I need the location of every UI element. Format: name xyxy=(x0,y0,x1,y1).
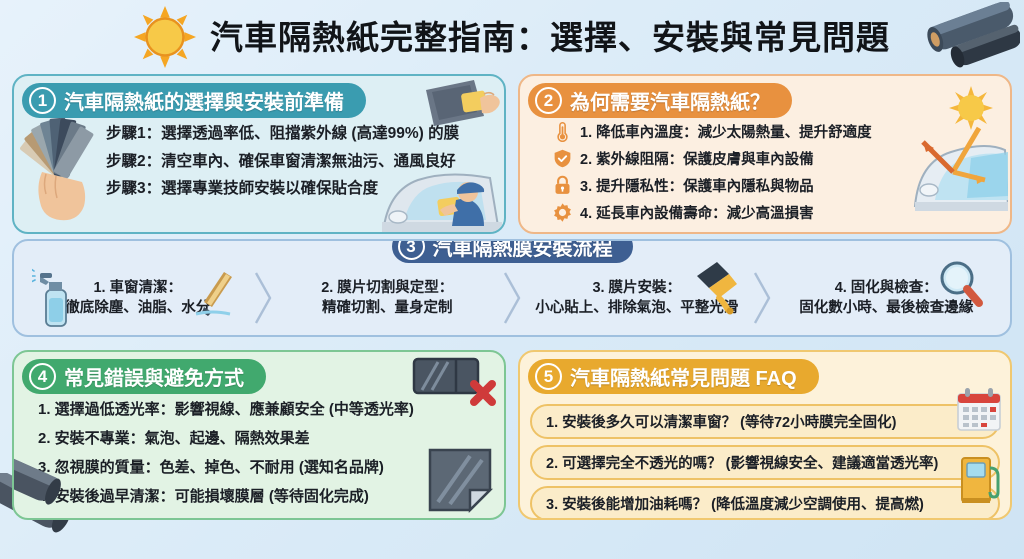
flow-step-title: 1. 車窗清潔： xyxy=(26,278,250,298)
list-item: 2. 安裝不專業：氣泡、起邊、隔熱效果差 xyxy=(38,423,504,452)
list-item: 3. 忽視膜的質量：色差、掉色、不耐用 (選知名品牌) xyxy=(38,452,504,481)
section-title-5: 汽車隔熱紙常見問題 FAQ xyxy=(570,362,797,391)
preparation-steps-list: 步驟1：選擇透過率低、阻擋紫外線 (高達99%) 的膜 步驟2：清空車內、確保車… xyxy=(106,120,504,203)
lock-icon xyxy=(552,175,573,196)
flow-step-3: 3. 膜片安裝： 小心貼上、排除氣泡、平整光滑 xyxy=(523,276,751,320)
chevron-right-icon xyxy=(751,271,773,325)
section-card-3: 3 汽車隔熱膜安裝流程 xyxy=(12,239,1012,337)
section-title-2: 為何需要汽車隔熱紙？ xyxy=(570,86,770,115)
thermometer-icon xyxy=(552,121,573,142)
section-title-1: 汽車隔熱紙的選擇與安裝前準備 xyxy=(64,86,344,115)
list-item: 步驟1：選擇透過率低、阻擋紫外線 (高達99%) 的膜 xyxy=(106,120,504,148)
list-item: 1. 降低車內溫度：減少太陽熱量、提升舒適度 xyxy=(552,118,1010,145)
chevron-right-icon xyxy=(501,271,523,325)
flow-step-title: 2. 膜片切割與定型： xyxy=(276,278,500,298)
list-item-label: 1. 降低車內溫度：減少太陽熱量、提升舒適度 xyxy=(580,121,872,142)
chevron-right-icon xyxy=(252,271,274,325)
swatch-fan-icon xyxy=(18,114,108,226)
section-number-2: 2 xyxy=(535,87,562,114)
section-title-3: 汽車隔熱膜安裝流程 xyxy=(433,239,613,261)
section-title-4: 常見錯誤與避免方式 xyxy=(64,362,244,391)
flow-step-desc: 精確切割、量身定制 xyxy=(276,298,500,318)
section-number-3: 3 xyxy=(398,239,425,260)
flow-step-desc: 小心貼上、排除氣泡、平整光滑 xyxy=(525,298,749,318)
section-header-5: 5 汽車隔熱紙常見問題 FAQ xyxy=(528,359,819,394)
section-card-2: 2 為何需要汽車隔熱紙？ 1. 降低車內溫度：減少太陽熱量、提升舒適度 2. 紫… xyxy=(518,74,1012,234)
list-item: 4. 安裝後過早清潔：可能損壞膜層 (等待固化完成) xyxy=(38,481,504,510)
mistakes-list: 1. 選擇過低透光率：影響視線、應兼顧安全 (中等透光率) 2. 安裝不專業：氣… xyxy=(38,394,504,510)
flow-step-4: 4. 固化與檢查： 固化數小時、最後檢查邊緣 xyxy=(773,276,1001,320)
sun-icon xyxy=(134,6,196,68)
list-item-label: 3. 提升隱私性：保護車內隱私與物品 xyxy=(580,175,814,196)
list-item: 1. 選擇過低透光率：影響視線、應兼顧安全 (中等透光率) xyxy=(38,394,504,423)
list-item: 2. 紫外線阻隔：保護皮膚與車內設備 xyxy=(552,145,1010,172)
section-header-1: 1 汽車隔熱紙的選擇與安裝前準備 xyxy=(22,83,366,118)
flow-step-desc: 固化數小時、最後檢查邊緣 xyxy=(775,298,999,318)
section-number-5: 5 xyxy=(535,363,562,390)
flow-step-title: 3. 膜片安裝： xyxy=(525,278,749,298)
flow-step-desc: 徹底除塵、油脂、水分 xyxy=(26,298,250,318)
section-number-1: 1 xyxy=(29,87,56,114)
faq-list: 1. 安裝後多久可以清潔車窗？ (等待72小時膜完全固化) 2. 可選擇完全不透… xyxy=(520,394,1010,520)
section-card-5: 5 汽車隔熱紙常見問題 FAQ 1. 安裝後多久可以清潔車窗？ (等待72小時膜… xyxy=(518,350,1012,520)
section-number-4: 4 xyxy=(29,363,56,390)
flow-step-title: 4. 固化與檢查： xyxy=(775,278,999,298)
list-item: 3. 提升隱私性：保護車內隱私與物品 xyxy=(552,172,1010,199)
list-item: 4. 延長車內設備壽命：減少高溫損害 xyxy=(552,199,1010,226)
section-header-3: 3 汽車隔熱膜安裝流程 xyxy=(392,239,633,263)
shield-check-icon xyxy=(552,148,573,169)
list-item: 步驟2：清空車內、確保車窗清潔無油污、通風良好 xyxy=(106,148,504,176)
section-header-2: 2 為何需要汽車隔熱紙？ xyxy=(528,83,792,118)
page-title: 汽車隔熱紙完整指南：選擇、安裝與常見問題 xyxy=(210,21,890,54)
section-card-1: 1 汽車隔熱紙的選擇與安裝前準備 步驟1：選擇透過率低、阻擋紫外線 (高達99%… xyxy=(12,74,506,234)
faq-item[interactable]: 1. 安裝後多久可以清潔車窗？ (等待72小時膜完全固化) xyxy=(530,404,1000,439)
faq-item[interactable]: 2. 可選擇完全不透光的嗎？ (影響視線安全、建議適當透光率) xyxy=(530,445,1000,480)
page-header: 汽車隔熱紙完整指南：選擇、安裝與常見問題 xyxy=(0,0,1024,74)
flow-step-1: 1. 車窗清潔： 徹底除塵、油脂、水分 xyxy=(24,276,252,320)
list-item-label: 2. 紫外線阻隔：保護皮膚與車內設備 xyxy=(580,148,814,169)
benefits-list: 1. 降低車內溫度：減少太陽熱量、提升舒適度 2. 紫外線阻隔：保護皮膚與車內設… xyxy=(552,118,1010,226)
installation-flow: 1. 車窗清潔： 徹底除塵、油脂、水分 2. 膜片切割與定型： 精確切割、量身定… xyxy=(14,265,1010,335)
section-card-4: 4 常見錯誤與避免方式 1. 選擇過低透光率：影響視線、應兼顧安全 (中等透光率… xyxy=(12,350,506,520)
faq-item[interactable]: 3. 安裝後能增加油耗嗎？ (降低溫度減少空調使用、提高燃) xyxy=(530,486,1000,520)
flow-step-2: 2. 膜片切割與定型： 精確切割、量身定制 xyxy=(274,276,502,320)
section-header-4: 4 常見錯誤與避免方式 xyxy=(22,359,266,394)
list-item-label: 4. 延長車內設備壽命：減少高溫損害 xyxy=(580,202,814,223)
list-item: 步驟3：選擇專業技師安裝以確保貼合度 xyxy=(106,175,504,203)
gear-icon xyxy=(552,202,573,223)
